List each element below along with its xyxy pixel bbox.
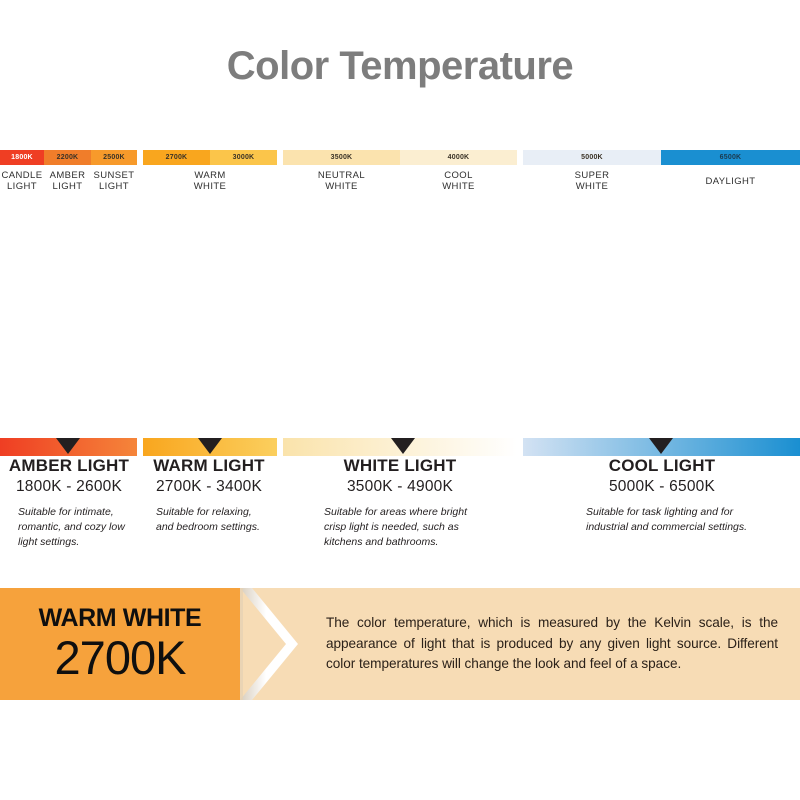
name-line-2: LIGHT [7,182,37,193]
name-line-2: WHITE [194,182,227,193]
category-title: WHITE LIGHT [284,456,516,476]
kelvin-chip-3500k: 3500K [283,150,400,165]
name-chip-warm-white: WARM WHITE [143,165,277,199]
summary-kelvin-value: 2700K [55,633,186,682]
kelvin-chip-1800k: 1800K [0,150,44,165]
pointer-cool-light [649,438,673,454]
kelvin-chip-3000k: 3000K [210,150,277,165]
category-title: COOL LIGHT [524,456,800,476]
kelvin-chip-5000k: 5000K [523,150,661,165]
name-chip-neutral-white: NEUTRAL WHITE [283,165,400,199]
category-description: Suitable for task lighting and for indus… [524,505,800,535]
kelvin-header-white: 3500K 4000K [283,150,517,165]
name-chip-daylight: DAYLIGHT [661,165,800,199]
name-line-2: WHITE [442,182,475,193]
kelvin-header-warm: 2700K 3000K [143,150,277,165]
kelvin-header-cool: 5000K 6500K [523,150,800,165]
column-white-light: 3500K 4000K NEUTRAL WHITE COOL WHITE [283,150,517,438]
name-header-warm: WARM WHITE [143,165,277,199]
category-range: 3500K - 4900K [284,478,516,496]
summary-panel: WARM WHITE 2700K The color temperature, … [0,588,800,700]
name-line-2: WHITE [325,182,358,193]
name-line-2: WHITE [576,182,609,193]
category-title: WARM LIGHT [142,456,276,476]
pointer-warm-light [198,438,222,454]
category-description: Suitable for relaxing, and bedroom setti… [142,505,276,535]
kelvin-chip-4000k: 4000K [400,150,517,165]
color-temperature-chart: 1800K 2200K 2500K CANDLE LIGHT AMBER LIG… [0,150,800,438]
summary-description: The color temperature, which is measured… [326,588,778,700]
summary-accent-block: WARM WHITE 2700K [0,588,240,700]
column-warm-light: 2700K 3000K WARM WHITE [143,150,277,438]
column-cool-light: 5000K 6500K SUPER WHITE DAYLIGHT [523,150,800,438]
name-header-amber: CANDLE LIGHT AMBER LIGHT SUNSET LIGHT [0,165,137,199]
category-range: 5000K - 6500K [524,478,800,496]
category-labels: AMBER LIGHT 1800K - 2600K Suitable for i… [0,456,800,566]
name-line-2: LIGHT [99,182,129,193]
category-amber-light: AMBER LIGHT 1800K - 2600K Suitable for i… [4,456,134,550]
name-line-1: DAYLIGHT [705,177,755,188]
category-description: Suitable for areas where bright crisp li… [284,505,516,550]
column-amber-light: 1800K 2200K 2500K CANDLE LIGHT AMBER LIG… [0,150,137,438]
category-cool-light: COOL LIGHT 5000K - 6500K Suitable for ta… [524,456,800,535]
name-chip-amber-light: AMBER LIGHT [44,165,91,199]
name-chip-super-white: SUPER WHITE [523,165,661,199]
kelvin-chip-6500k: 6500K [661,150,800,165]
name-header-cool: SUPER WHITE DAYLIGHT [523,165,800,199]
kelvin-header-amber: 1800K 2200K 2500K [0,150,137,165]
pointer-white-light [391,438,415,454]
page-title: Color Temperature [0,44,800,89]
category-warm-light: WARM LIGHT 2700K - 3400K Suitable for re… [142,456,276,535]
kelvin-chip-2200k: 2200K [44,150,91,165]
name-chip-candle-light: CANDLE LIGHT [0,165,44,199]
name-line-2: LIGHT [53,182,83,193]
pointer-amber-light [56,438,80,454]
category-range: 2700K - 3400K [142,478,276,496]
name-header-white: NEUTRAL WHITE COOL WHITE [283,165,517,199]
kelvin-chip-2500k: 2500K [91,150,137,165]
category-title: AMBER LIGHT [4,456,134,476]
category-description: Suitable for intimate, romantic, and coz… [4,505,134,550]
category-white-light: WHITE LIGHT 3500K - 4900K Suitable for a… [284,456,516,550]
summary-light-kind: WARM WHITE [39,606,202,631]
kelvin-chip-2700k: 2700K [143,150,210,165]
name-chip-cool-white: COOL WHITE [400,165,517,199]
category-range: 1800K - 2600K [4,478,134,496]
name-chip-sunset-light: SUNSET LIGHT [91,165,137,199]
chevron-right-icon [240,588,318,700]
